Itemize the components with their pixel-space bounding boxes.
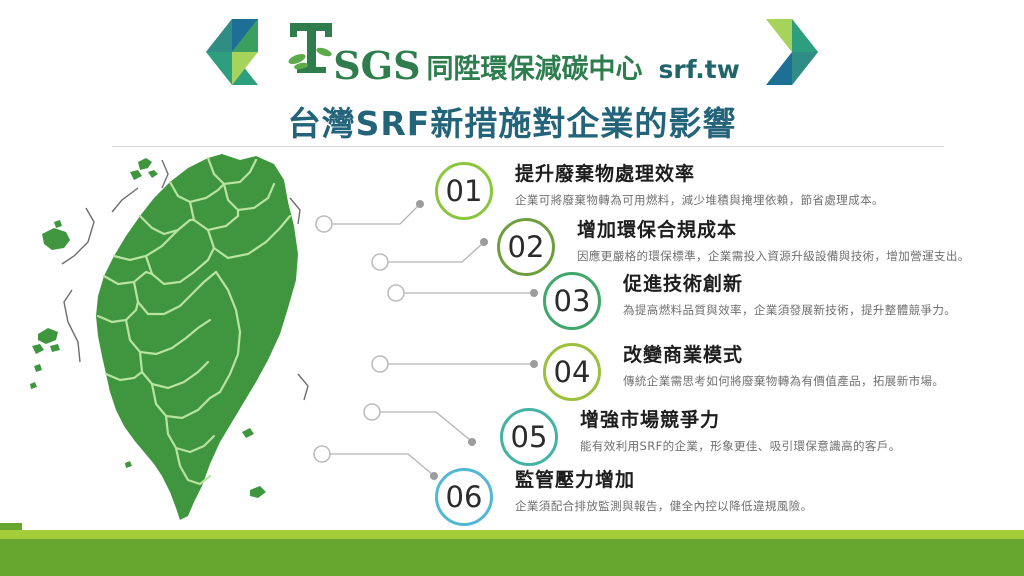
- item-heading-01: 提升廢棄物處理效率: [515, 163, 884, 187]
- item-description-02: 因應更嚴格的環保標準，企業需投入資源升級設備與技術，增加營運支出。: [577, 249, 970, 264]
- chevron-right-icon: [746, 19, 818, 85]
- leaf-t-monogram-icon: [284, 19, 340, 77]
- item-06[interactable]: 06 監管壓力增加 企業須配合排放監測與報告，健全內控以降低違規風險。: [435, 468, 813, 526]
- item-text-02: 增加環保合規成本 因應更嚴格的環保標準，企業需投入資源升級設備與技術，增加營運支…: [577, 218, 970, 264]
- item-description-01: 企業可將廢棄物轉為可用燃料，減少堆積與掩埋依賴，節省處理成本。: [515, 193, 884, 208]
- item-number-badge-02: 02: [497, 218, 555, 276]
- brand-organization: 同陞環保減碳中心: [427, 47, 643, 86]
- footer-bar-light: [0, 530, 1024, 539]
- item-text-04: 改變商業模式 傳統企業需思考如何將廢棄物轉為有價值產品，拓展新市場。: [623, 343, 944, 389]
- brand-acronym: SGS: [333, 43, 420, 88]
- footer-notch: [0, 523, 22, 530]
- item-heading-06: 監管壓力增加: [515, 469, 813, 493]
- item-number-badge-06: 06: [435, 468, 493, 526]
- slide-canvas: SGS 同陞環保減碳中心 srf.tw 台灣SRF新措施對企業的影響: [0, 0, 1024, 576]
- item-heading-03: 促進技術創新: [623, 273, 956, 297]
- item-text-05: 增強市場競爭力 能有效利用SRF的企業，形象更佳、吸引環保意識高的客戶。: [580, 408, 901, 454]
- item-heading-05: 增強市場競爭力: [580, 409, 901, 433]
- title-divider: [112, 146, 944, 147]
- item-heading-02: 增加環保合規成本: [577, 219, 970, 243]
- item-text-03: 促進技術創新 為提高燃料品質與效率，企業須發展新技術，提升整體競爭力。: [623, 272, 956, 318]
- item-number-badge-03: 03: [543, 272, 601, 330]
- taiwan-map: [12, 150, 322, 525]
- item-04[interactable]: 04 改變商業模式 傳統企業需思考如何將廢棄物轉為有價值產品，拓展新市場。: [543, 343, 944, 401]
- item-heading-04: 改變商業模式: [623, 344, 944, 368]
- item-number-badge-04: 04: [543, 343, 601, 401]
- item-description-04: 傳統企業需思考如何將廢棄物轉為有價值產品，拓展新市場。: [623, 374, 944, 389]
- item-number-badge-01: 01: [435, 162, 493, 220]
- footer-bar-dark: [0, 539, 1024, 576]
- brand-header: SGS 同陞環保減碳中心 srf.tw: [0, 22, 1024, 82]
- item-number-badge-05: 05: [500, 408, 558, 466]
- item-description-03: 為提高燃料品質與效率，企業須發展新技術，提升整體競爭力。: [623, 303, 956, 318]
- page-title: 台灣SRF新措施對企業的影響: [0, 97, 1024, 145]
- item-description-05: 能有效利用SRF的企業，形象更佳、吸引環保意識高的客戶。: [580, 439, 901, 454]
- item-02[interactable]: 02 增加環保合規成本 因應更嚴格的環保標準，企業需投入資源升級設備與技術，增加…: [497, 218, 970, 276]
- logo-wordmark: SGS 同陞環保減碳中心 srf.tw: [278, 19, 746, 86]
- item-text-06: 監管壓力增加 企業須配合排放監測與報告，健全內控以降低違規風險。: [515, 468, 813, 514]
- item-01[interactable]: 01 提升廢棄物處理效率 企業可將廢棄物轉為可用燃料，減少堆積與掩埋依賴，節省處…: [435, 162, 884, 220]
- brand-website[interactable]: srf.tw: [659, 55, 740, 84]
- item-text-01: 提升廢棄物處理效率 企業可將廢棄物轉為可用燃料，減少堆積與掩埋依賴，節省處理成本…: [515, 162, 884, 208]
- item-description-06: 企業須配合排放監測與報告，健全內控以降低違規風險。: [515, 499, 813, 514]
- item-03[interactable]: 03 促進技術創新 為提高燃料品質與效率，企業須發展新技術，提升整體競爭力。: [543, 272, 956, 330]
- item-05[interactable]: 05 增強市場競爭力 能有效利用SRF的企業，形象更佳、吸引環保意識高的客戶。: [500, 408, 901, 466]
- chevron-left-icon: [206, 19, 278, 85]
